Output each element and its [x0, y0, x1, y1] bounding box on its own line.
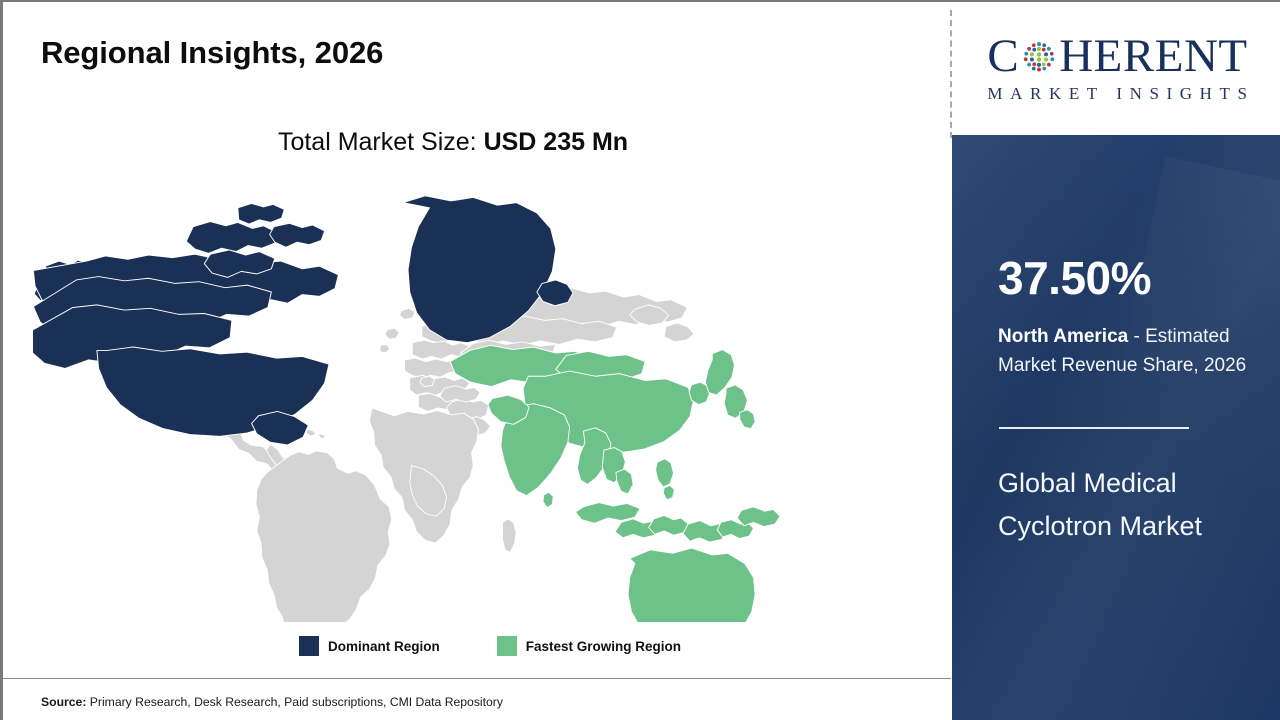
slide-root: Regional Insights, 2026 Total Market Siz…: [0, 0, 1280, 720]
stat-divider: [999, 427, 1189, 429]
brand-logo: C: [952, 2, 1280, 135]
world-map: [33, 182, 893, 622]
stat-description: North America - Estimated Market Revenue…: [998, 323, 1270, 381]
stat-panel: 37.50% North America - Estimated Market …: [952, 135, 1280, 720]
legend-label-dominant: Dominant Region: [328, 639, 440, 654]
logo-wordmark: C: [987, 33, 1247, 80]
legend-swatch-dominant-icon: [299, 636, 319, 656]
logo-letter-c: C: [987, 33, 1019, 80]
stat-region-name: North America: [998, 326, 1128, 347]
source-label: Source:: [41, 695, 86, 709]
legend-item-fastest-growing: Fastest Growing Region: [497, 636, 681, 656]
legend-label-fastest-growing: Fastest Growing Region: [526, 639, 681, 654]
map-region-asia-pacific: [450, 345, 808, 622]
page-title: Regional Insights, 2026: [41, 35, 383, 71]
map-legend: Dominant Region Fastest Growing Region: [299, 636, 681, 656]
stat-percentage: 37.50%: [998, 255, 1151, 301]
footer-divider: [3, 678, 951, 679]
legend-item-dominant: Dominant Region: [299, 636, 440, 656]
total-market-size: Total Market Size: USD 235 Mn: [3, 128, 903, 157]
legend-swatch-fastest-growing-icon: [497, 636, 517, 656]
market-size-value: USD 235 Mn: [484, 128, 628, 156]
logo-subtitle: MARKET INSIGHTS: [980, 84, 1254, 104]
logo-letters-herent: HERENT: [1059, 33, 1247, 80]
world-map-svg: [33, 182, 893, 622]
source-line: Source: Primary Research, Desk Research,…: [41, 695, 503, 709]
market-size-label: Total Market Size:: [278, 128, 484, 156]
report-title: Global Medical Cyclotron Market: [998, 462, 1268, 547]
left-content-pane: Regional Insights, 2026 Total Market Siz…: [3, 2, 951, 720]
source-text: Primary Research, Desk Research, Paid su…: [86, 695, 503, 709]
globe-dot-sphere-icon: [1020, 38, 1058, 76]
